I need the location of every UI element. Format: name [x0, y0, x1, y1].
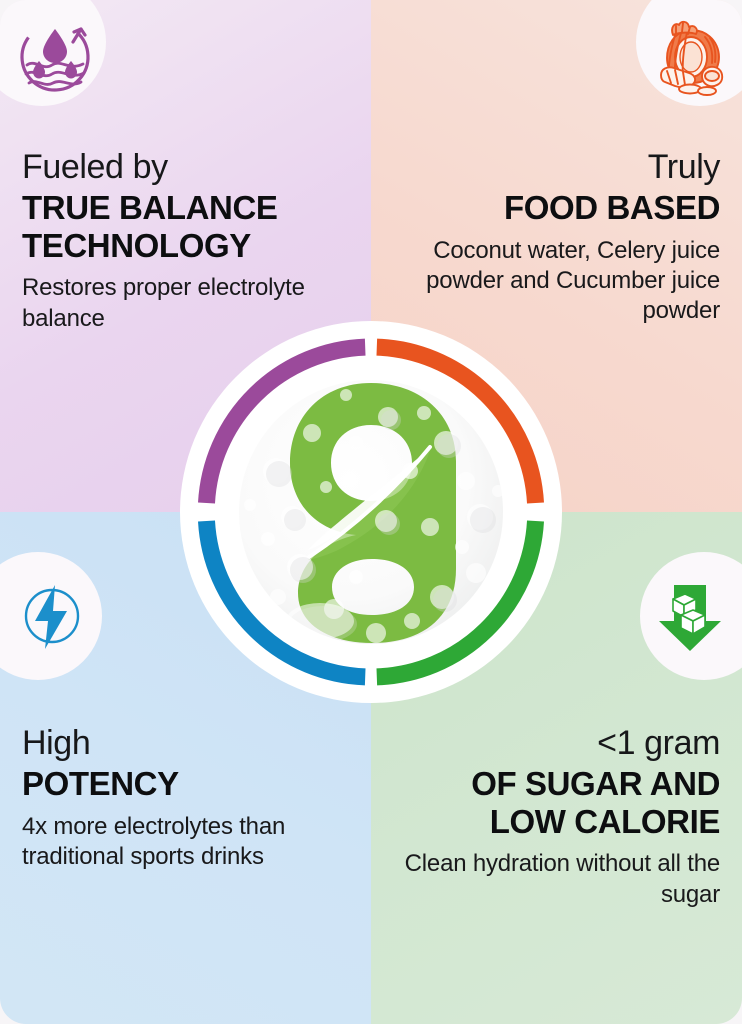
coconut-celery-cucumber-icon [658, 0, 742, 84]
subtext: Restores proper electrolyte balance [22, 273, 349, 333]
eyebrow-text: Fueled by [22, 148, 349, 186]
headline-text: OF SUGAR AND LOW CALORIE [393, 765, 720, 840]
product-benefits-infographic: Fueled by TRUE BALANCE TECHNOLOGY Restor… [0, 0, 742, 1024]
headline-text: TRUE BALANCE TECHNOLOGY [22, 189, 349, 264]
water-droplet-waves-icon [0, 0, 86, 86]
headline-text: FOOD BASED [393, 189, 720, 227]
quadrant-food-based: Truly FOOD BASED Coconut water, Celery j… [371, 0, 742, 512]
sugar-cubes-down-arrow-icon [665, 577, 742, 655]
quadrant-text-true-balance: Fueled by TRUE BALANCE TECHNOLOGY Restor… [22, 148, 349, 334]
quadrant-text-food-based: Truly FOOD BASED Coconut water, Celery j… [393, 148, 720, 326]
quadrant-true-balance-technology: Fueled by TRUE BALANCE TECHNOLOGY Restor… [0, 0, 371, 512]
subtext: 4x more electrolytes than traditional sp… [22, 812, 349, 872]
water-droplet-waves-icon-badge [0, 0, 106, 106]
lightning-bolt-icon [0, 577, 77, 655]
quadrant-low-sugar-low-calorie: <1 gram OF SUGAR AND LOW CALORIE Clean h… [371, 512, 742, 1024]
quadrant-text-low-sugar: <1 gram OF SUGAR AND LOW CALORIE Clean h… [393, 724, 720, 910]
quadrant-text-high-potency: High POTENCY 4x more electrolytes than t… [22, 724, 349, 872]
quadrant-high-potency: High POTENCY 4x more electrolytes than t… [0, 512, 371, 1024]
eyebrow-text: Truly [393, 148, 720, 186]
eyebrow-text: High [22, 724, 349, 762]
sugar-cubes-down-arrow-icon-badge [640, 552, 742, 680]
coconut-celery-cucumber-icon-badge [636, 0, 742, 106]
subtext: Coconut water, Celery juice powder and C… [393, 236, 720, 327]
subtext: Clean hydration without all the sugar [393, 849, 720, 909]
eyebrow-text: <1 gram [393, 724, 720, 762]
lightning-bolt-icon-badge [0, 552, 102, 680]
headline-text: POTENCY [22, 765, 349, 803]
quadrant-grid: Fueled by TRUE BALANCE TECHNOLOGY Restor… [0, 0, 742, 1024]
